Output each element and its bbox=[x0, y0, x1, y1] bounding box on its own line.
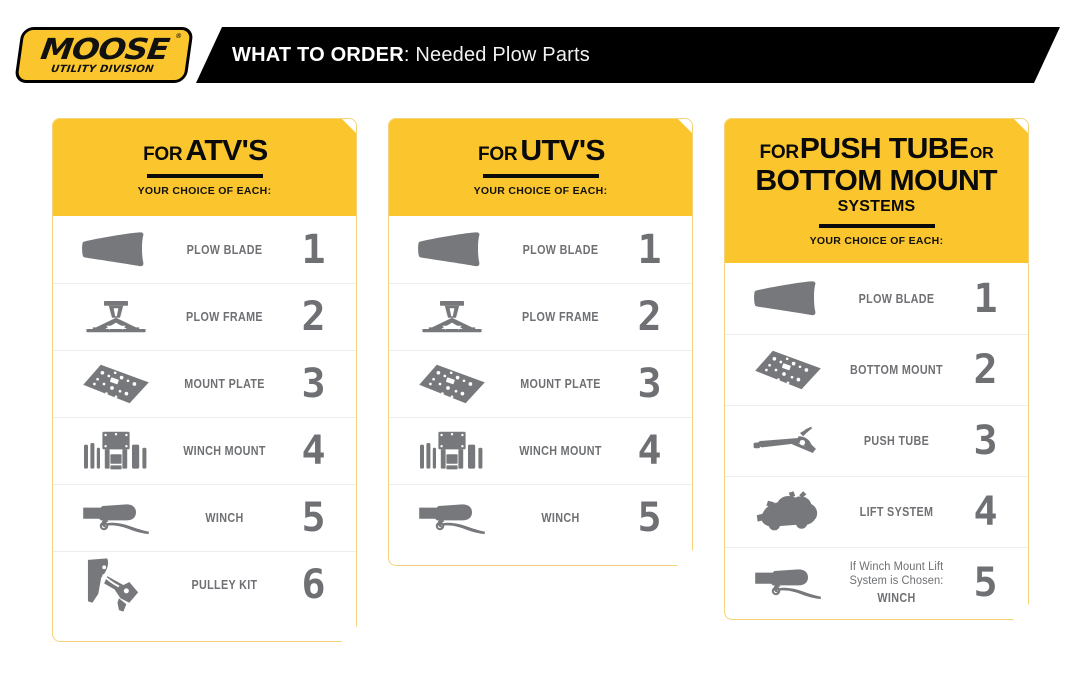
part-label: PUSH TUBE bbox=[843, 434, 951, 448]
card-title-prefix: FOR bbox=[143, 144, 182, 165]
part-label: PLOW BLADE bbox=[507, 243, 615, 257]
part-label: MOUNT PLATE bbox=[507, 377, 615, 391]
part-row[interactable]: PLOW FRAME2 bbox=[52, 283, 357, 350]
part-label: PLOW BLADE bbox=[843, 292, 951, 306]
card-title-line1: FOR UTV'S bbox=[478, 136, 603, 166]
bottom-mount-icon bbox=[742, 349, 834, 391]
part-label: If Winch Mount Lift System is Chosen:WIN… bbox=[843, 561, 951, 604]
part-label: BOTTOM MOUNT bbox=[843, 363, 951, 377]
part-number: 1 bbox=[959, 279, 1011, 319]
card-title-suffix: OR bbox=[970, 145, 994, 162]
part-label: PLOW FRAME bbox=[171, 310, 279, 324]
card-atv: FOR ATV'SYOUR CHOICE OF EACH:PLOW BLADE1… bbox=[52, 118, 357, 642]
part-number: 5 bbox=[287, 498, 339, 538]
card-title-line1: FOR PUSH TUBE OR bbox=[760, 134, 994, 164]
card-header: FOR PUSH TUBE ORBOTTOM MOUNTSYSTEMSYOUR … bbox=[724, 118, 1029, 263]
mount-plate-icon bbox=[406, 363, 498, 405]
part-row[interactable]: WINCH MOUNT4 bbox=[52, 417, 357, 484]
part-row[interactable]: WINCH5 bbox=[388, 484, 693, 551]
part-number: 1 bbox=[287, 230, 339, 270]
plow-blade-icon bbox=[406, 231, 498, 269]
winch-icon bbox=[406, 501, 498, 535]
plow-frame-icon bbox=[406, 298, 498, 336]
card-choice-label: YOUR CHOICE OF EACH: bbox=[810, 235, 944, 247]
title-divider bbox=[819, 224, 935, 228]
part-number: 6 bbox=[287, 565, 339, 605]
card-title-line2: BOTTOM MOUNT bbox=[760, 166, 994, 196]
part-number: 2 bbox=[623, 297, 675, 337]
title-divider bbox=[147, 174, 263, 178]
winch-mount-icon bbox=[406, 430, 498, 472]
part-number: 1 bbox=[623, 230, 675, 270]
pulley-kit-icon bbox=[70, 556, 162, 614]
part-number: 3 bbox=[959, 421, 1011, 461]
part-row[interactable]: If Winch Mount Lift System is Chosen:WIN… bbox=[724, 547, 1029, 618]
part-label: WINCH bbox=[171, 511, 279, 525]
part-label: WINCH MOUNT bbox=[171, 444, 279, 458]
part-row[interactable]: PLOW BLADE1 bbox=[52, 216, 357, 283]
winch-mount-icon bbox=[70, 430, 162, 472]
plow-blade-icon bbox=[70, 231, 162, 269]
card-title-main: UTV'S bbox=[520, 136, 605, 166]
plow-frame-icon bbox=[70, 298, 162, 336]
part-label: PLOW BLADE bbox=[171, 243, 279, 257]
part-row[interactable]: PLOW FRAME2 bbox=[388, 283, 693, 350]
part-list: PLOW BLADE1PLOW FRAME2MOUNT PLATE3WINCH … bbox=[52, 216, 357, 618]
card-title-prefix: FOR bbox=[760, 142, 799, 163]
plow-blade-icon bbox=[742, 280, 834, 318]
part-row[interactable]: MOUNT PLATE3 bbox=[388, 350, 693, 417]
part-label: LIFT SYSTEM bbox=[843, 505, 951, 519]
card-title: FOR PUSH TUBE ORBOTTOM MOUNTSYSTEMS bbox=[760, 134, 994, 216]
mount-plate-icon bbox=[70, 363, 162, 405]
winch-icon bbox=[70, 501, 162, 535]
card-push: FOR PUSH TUBE ORBOTTOM MOUNTSYSTEMSYOUR … bbox=[724, 118, 1029, 620]
part-list: PLOW BLADE1PLOW FRAME2MOUNT PLATE3WINCH … bbox=[388, 216, 693, 551]
part-row[interactable]: PULLEY KIT6 bbox=[52, 551, 357, 618]
card-utv: FOR UTV'SYOUR CHOICE OF EACH:PLOW BLADE1… bbox=[388, 118, 693, 566]
card-header: FOR UTV'SYOUR CHOICE OF EACH: bbox=[388, 118, 693, 216]
card-title-line1: FOR ATV'S bbox=[143, 136, 266, 166]
title-divider bbox=[483, 174, 599, 178]
cards-container: FOR ATV'SYOUR CHOICE OF EACH:PLOW BLADE1… bbox=[0, 0, 1080, 691]
part-number: 3 bbox=[623, 364, 675, 404]
part-number: 3 bbox=[287, 364, 339, 404]
card-title: FOR UTV'S bbox=[478, 136, 603, 166]
card-title: FOR ATV'S bbox=[143, 136, 266, 166]
part-row[interactable]: BOTTOM MOUNT2 bbox=[724, 334, 1029, 405]
part-row[interactable]: MOUNT PLATE3 bbox=[52, 350, 357, 417]
card-choice-label: YOUR CHOICE OF EACH: bbox=[138, 185, 272, 197]
part-number: 5 bbox=[623, 498, 675, 538]
part-label-text: WINCH bbox=[843, 591, 951, 605]
part-note: If Winch Mount Lift System is Chosen: bbox=[836, 561, 956, 587]
part-label: PLOW FRAME bbox=[507, 310, 615, 324]
card-header: FOR ATV'SYOUR CHOICE OF EACH: bbox=[52, 118, 357, 216]
part-label: WINCH MOUNT bbox=[507, 444, 615, 458]
part-row[interactable]: PLOW BLADE1 bbox=[724, 263, 1029, 334]
part-number: 4 bbox=[959, 492, 1011, 532]
card-choice-label: YOUR CHOICE OF EACH: bbox=[474, 185, 608, 197]
part-number: 2 bbox=[959, 350, 1011, 390]
push-tube-icon bbox=[742, 424, 834, 458]
card-title-main: ATV'S bbox=[185, 136, 267, 166]
part-label: WINCH bbox=[507, 511, 615, 525]
part-label: MOUNT PLATE bbox=[171, 377, 279, 391]
part-number: 2 bbox=[287, 297, 339, 337]
part-list: PLOW BLADE1BOTTOM MOUNT2PUSH TUBE3LIFT S… bbox=[724, 263, 1029, 618]
part-row[interactable]: WINCH5 bbox=[52, 484, 357, 551]
lift-system-icon bbox=[742, 489, 834, 535]
card-title-prefix: FOR bbox=[478, 144, 517, 165]
winch-icon bbox=[742, 566, 834, 600]
part-row[interactable]: PUSH TUBE3 bbox=[724, 405, 1029, 476]
part-row[interactable]: PLOW BLADE1 bbox=[388, 216, 693, 283]
part-number: 4 bbox=[287, 431, 339, 471]
card-title-main: PUSH TUBE bbox=[800, 134, 969, 164]
part-number: 4 bbox=[623, 431, 675, 471]
part-label: PULLEY KIT bbox=[171, 578, 279, 592]
part-number: 5 bbox=[959, 563, 1011, 603]
part-row[interactable]: LIFT SYSTEM4 bbox=[724, 476, 1029, 547]
card-title-line3: SYSTEMS bbox=[760, 199, 994, 216]
part-row[interactable]: WINCH MOUNT4 bbox=[388, 417, 693, 484]
